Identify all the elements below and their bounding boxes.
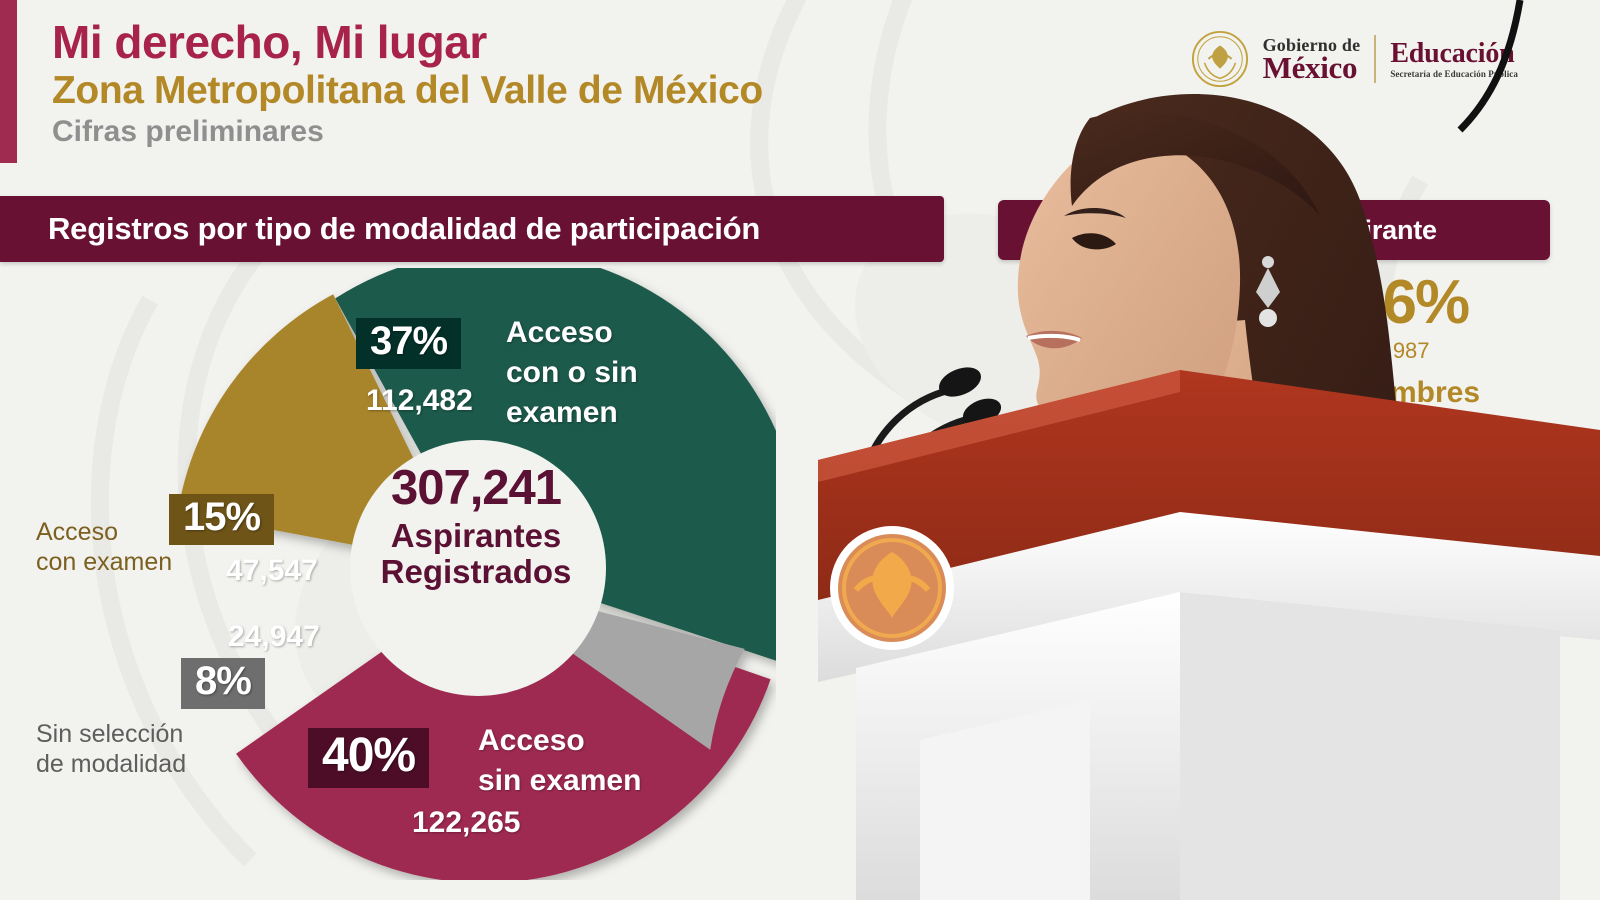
slice-outer-label-con-examen: Acceso con examen [36, 518, 196, 577]
donut-center-line1: Aspirantes [326, 519, 626, 552]
slice-name-sin-examen-l2: sin examen [478, 764, 641, 798]
slice-outer-label-sin-seleccion-l2: de modalidad [36, 750, 216, 780]
donut-center-line2: Registrados [326, 555, 626, 588]
podium-body-shade [1180, 592, 1560, 900]
donut-center-total: 307,241 [326, 464, 626, 513]
slice-pct-sin-seleccion: 8% [181, 658, 265, 709]
slice-outer-label-con-examen-l1: Acceso [36, 518, 196, 548]
podium [818, 370, 1600, 900]
donut-center-label: 307,241 Aspirantes Registrados [326, 464, 626, 588]
slice-name-con-o-sin-examen-l3: examen [506, 396, 618, 430]
press-conference-photo [620, 0, 1600, 900]
slice-value-con-examen: 47,547 [226, 554, 318, 587]
slice-name-con-o-sin-examen-l1: Acceso [506, 316, 613, 350]
slice-pct-sin-examen: 40% [308, 728, 429, 788]
slice-name-sin-examen-l1: Acceso [478, 724, 585, 758]
slice-value-con-o-sin-examen: 112,482 [366, 384, 473, 417]
slice-pct-con-o-sin-examen: 37% [356, 318, 461, 369]
slice-outer-label-con-examen-l2: con examen [36, 548, 196, 578]
podium-seal-icon [830, 526, 954, 650]
left-accent-bar [0, 0, 17, 163]
slice-outer-label-sin-seleccion-l1: Sin selección [36, 720, 216, 750]
slice-outer-label-sin-seleccion: Sin selección de modalidad [36, 720, 216, 779]
mic-cable [1460, 0, 1520, 130]
slice-value-sin-seleccion: 24,947 [228, 620, 320, 653]
mic-head [935, 362, 986, 403]
slice-value-sin-examen: 122,265 [412, 806, 520, 839]
slide-canvas: Mi derecho, Mi lugar Zona Metropolitana … [0, 0, 1600, 900]
slice-name-con-o-sin-examen-l2: con o sin [506, 356, 638, 390]
speaker-and-podium-illustration [620, 0, 1600, 900]
